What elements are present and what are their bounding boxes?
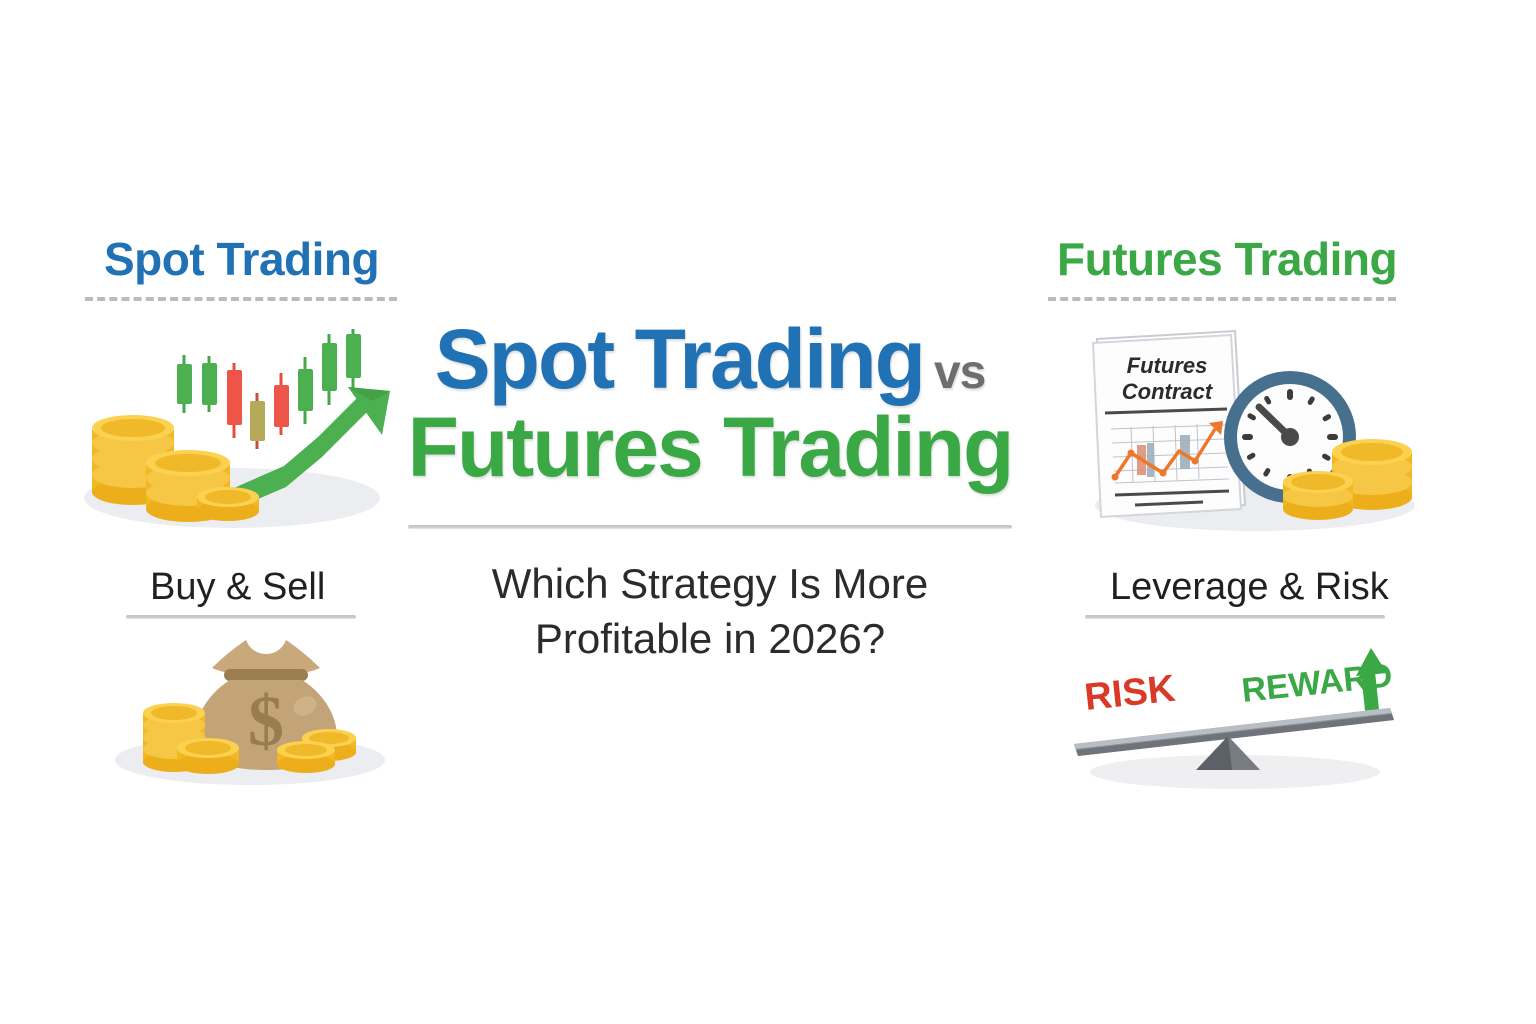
- title-vs: vs: [934, 346, 985, 399]
- left-column-header: Spot Trading: [104, 232, 379, 286]
- right-sub-label-divider: [1085, 615, 1385, 619]
- document-title-line-2: Contract: [1122, 379, 1214, 404]
- money-bag-illustration: $: [100, 632, 390, 792]
- futures-contract-illustration: Futures Contract: [1075, 325, 1435, 535]
- center-subtitle: Which Strategy Is More Profitable in 202…: [400, 556, 1020, 667]
- right-column-header: Futures Trading: [1057, 232, 1397, 286]
- document-title-line-1: Futures: [1127, 353, 1208, 378]
- coin-single: [197, 487, 259, 521]
- subtitle-line-two: Profitable in 2026?: [400, 611, 1020, 666]
- coin-front-left: [177, 738, 239, 774]
- center-divider: [408, 525, 1012, 529]
- risk-reward-seesaw-illustration: RISK REWARD: [1060, 640, 1420, 800]
- left-sub-label: Buy & Sell: [150, 566, 325, 609]
- coin-stack-right-short: [1283, 471, 1353, 520]
- left-sub-label-divider: [126, 615, 356, 619]
- right-header-divider: [1048, 297, 1396, 301]
- subtitle-line-one: Which Strategy Is More: [400, 556, 1020, 611]
- seesaw-risk-label: RISK: [1083, 668, 1178, 719]
- center-title-block: Spot Tradingvs Futures Trading: [400, 318, 1020, 489]
- left-header-divider: [85, 297, 397, 301]
- coin-right-front: [277, 741, 335, 773]
- futures-contract-document: Futures Contract: [1093, 331, 1245, 517]
- title-part-spot-trading: Spot Trading: [435, 312, 924, 406]
- title-part-futures-trading: Futures Trading: [400, 406, 1020, 488]
- infographic-canvas: Spot Trading: [0, 0, 1536, 1024]
- title-line-one: Spot Tradingvs: [400, 318, 1020, 400]
- coins-candlestick-chart-illustration: [72, 325, 402, 535]
- right-sub-label: Leverage & Risk: [1110, 566, 1389, 609]
